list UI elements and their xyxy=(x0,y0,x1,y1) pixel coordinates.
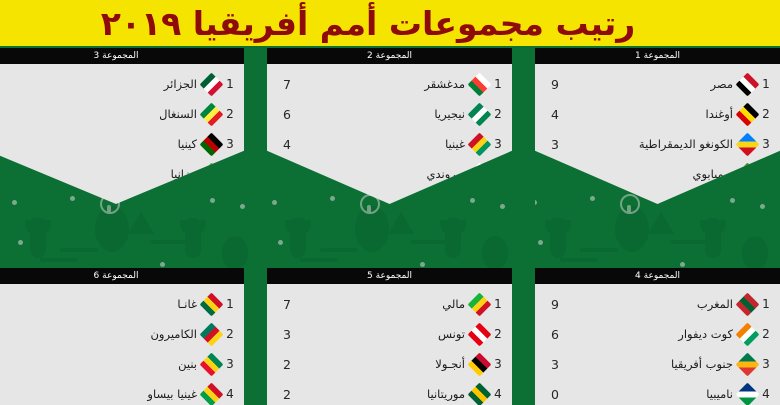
flag-icon-cm xyxy=(199,322,223,346)
team-name: موريتانيا xyxy=(423,387,469,401)
team-points: 4 xyxy=(541,107,573,122)
team-name: كينيا xyxy=(174,137,201,151)
team-name: المغرب xyxy=(693,297,737,311)
team-name: مالي xyxy=(438,297,469,311)
group-header-3: المجموعة 3 xyxy=(0,48,244,64)
table-row[interactable]: 3أنجـولا2 xyxy=(267,349,512,379)
decor-dot xyxy=(730,198,735,203)
flag-icon-ao xyxy=(467,352,491,376)
decor-tri xyxy=(128,212,154,234)
row-rank: 4 xyxy=(490,387,506,401)
team-points: 6 xyxy=(541,327,573,342)
decor-dash xyxy=(410,240,448,244)
team-name: الجزائر xyxy=(160,77,201,91)
decor-dot xyxy=(500,204,505,209)
row-rank: 3 xyxy=(222,137,238,151)
table-row[interactable]: 3جنوب أفريقيا3 xyxy=(535,349,780,379)
team-name: غينيا بيساو xyxy=(143,387,201,401)
team-name: السنغال xyxy=(155,107,201,121)
team-name: الكونغو الديمقراطية xyxy=(635,137,737,151)
flag-icon-mr xyxy=(467,382,491,405)
row-rank: 1 xyxy=(490,297,506,311)
team-name: نيجيريا xyxy=(430,107,469,121)
column-divider xyxy=(255,48,267,216)
decor-dot xyxy=(18,240,23,245)
flag-icon-ma xyxy=(735,292,759,316)
decor-trophy xyxy=(30,218,46,258)
table-row[interactable]: 1مدغشقر7 xyxy=(267,69,512,99)
team-name: جنوب أفريقيا xyxy=(667,357,737,371)
table-row[interactable]: 3كينيا xyxy=(0,129,244,159)
table-row[interactable]: 1المغرب9 xyxy=(535,289,780,319)
row-rank: 2 xyxy=(490,327,506,341)
team-name: تونس xyxy=(434,327,469,341)
flag-icon-ug xyxy=(735,102,759,126)
group-title: المجموعة 2 xyxy=(367,51,412,61)
flag-icon-eg xyxy=(735,72,759,96)
team-points: 9 xyxy=(541,297,573,312)
group-title: المجموعة 4 xyxy=(635,271,680,281)
decor-dot xyxy=(330,196,335,201)
decor-dash xyxy=(670,240,708,244)
decor-blob xyxy=(222,236,248,270)
divider-arrow xyxy=(523,214,535,223)
decor-dot xyxy=(160,262,165,267)
team-points: 3 xyxy=(273,327,305,342)
decor-dot xyxy=(272,200,277,205)
row-rank: 2 xyxy=(222,107,238,121)
row-rank: 4 xyxy=(758,387,774,401)
row-rank: 3 xyxy=(490,137,506,151)
decor-dot xyxy=(240,204,245,209)
table-row[interactable]: 3غينيا4 xyxy=(267,129,512,159)
table-row[interactable]: 3الكونغو الديمقراطية3 xyxy=(535,129,780,159)
flag-icon-ke xyxy=(199,132,223,156)
group-title: المجموعة 6 xyxy=(94,271,139,281)
flag-icon-bj xyxy=(199,352,223,376)
infographic-stage: رتيب مجموعات أمم أفريقيا ٢٠١٩ المجموعة 1… xyxy=(0,0,780,405)
group-4: 1المغرب92كوت ديفوار63جنوب أفريقيا34ناميب… xyxy=(535,284,780,405)
table-row[interactable]: 1مصر9 xyxy=(535,69,780,99)
decor-dot xyxy=(760,204,765,209)
decor-dot xyxy=(680,262,685,267)
table-row[interactable]: 2الكاميرون xyxy=(0,319,244,349)
decor-dot xyxy=(70,196,75,201)
team-points: 3 xyxy=(541,137,573,152)
decor-tri xyxy=(648,212,674,234)
column-divider xyxy=(523,48,535,216)
team-points: 6 xyxy=(273,107,305,122)
team-points: 7 xyxy=(273,297,305,312)
decor-blob xyxy=(742,236,768,270)
row-rank: 2 xyxy=(490,107,506,121)
decor-dash xyxy=(580,248,618,252)
group-6: 1غانـا2الكاميرون3بنين4غينيا بيساو xyxy=(0,284,244,405)
flag-icon-cd xyxy=(735,132,759,156)
decor-dot xyxy=(12,200,17,205)
table-row[interactable]: 4غينيا بيساو xyxy=(0,379,244,405)
decor-dash xyxy=(40,258,78,262)
team-name: بنين xyxy=(174,357,201,371)
decor-ring xyxy=(620,194,640,214)
decor-dash xyxy=(560,258,598,262)
row-rank: 3 xyxy=(758,357,774,371)
row-rank: 2 xyxy=(758,107,774,121)
team-name: مصر xyxy=(707,77,737,91)
team-points: 9 xyxy=(541,77,573,92)
table-row[interactable]: 1مالي7 xyxy=(267,289,512,319)
flag-icon-ci xyxy=(735,322,759,346)
table-row[interactable]: 3بنين xyxy=(0,349,244,379)
group-header-6: المجموعة 6 xyxy=(0,268,244,284)
group-5: 1مالي72تونس33أنجـولا24موريتانيا2 xyxy=(267,284,512,405)
column-divider xyxy=(255,268,267,405)
row-rank: 1 xyxy=(490,77,506,91)
team-points: 4 xyxy=(273,137,305,152)
group-header-2: المجموعة 2 xyxy=(267,48,512,64)
team-name: غينيا xyxy=(441,137,469,151)
decor-dash xyxy=(320,248,358,252)
flag-icon-ml xyxy=(467,292,491,316)
decor-trophy xyxy=(705,218,721,258)
decor-dot xyxy=(210,198,215,203)
decor-dot xyxy=(590,196,595,201)
row-rank: 1 xyxy=(222,297,238,311)
group-title: المجموعة 5 xyxy=(367,271,412,281)
flag-icon-gw xyxy=(199,382,223,405)
flag-icon-za xyxy=(735,352,759,376)
table-row[interactable]: 2أوغندا4 xyxy=(535,99,780,129)
decor-trophy xyxy=(185,218,201,258)
flag-icon-mg xyxy=(467,72,491,96)
team-name: غانـا xyxy=(173,297,201,311)
row-rank: 1 xyxy=(222,77,238,91)
group-title: المجموعة 1 xyxy=(635,51,680,61)
group-header-4: المجموعة 4 xyxy=(535,268,780,284)
decor-trophy xyxy=(290,218,306,258)
team-name: الكاميرون xyxy=(146,327,201,341)
team-name: أنجـولا xyxy=(431,357,469,371)
team-name: كوت ديفوار xyxy=(674,327,737,341)
flag-icon-dz xyxy=(199,72,223,96)
row-rank: 3 xyxy=(758,137,774,151)
title-bar: رتيب مجموعات أمم أفريقيا ٢٠١٩ xyxy=(0,0,780,46)
flag-icon-na xyxy=(735,382,759,405)
group-header-1: المجموعة 1 xyxy=(535,48,780,64)
table-row[interactable]: 2نيجيريا6 xyxy=(267,99,512,129)
table-row[interactable]: 4موريتانيا2 xyxy=(267,379,512,405)
row-rank: 2 xyxy=(758,327,774,341)
row-rank: 4 xyxy=(222,387,238,401)
decor-dash xyxy=(60,248,98,252)
page-title: رتيب مجموعات أمم أفريقيا ٢٠١٩ xyxy=(101,4,636,43)
decor-trophy xyxy=(445,218,461,258)
team-points: 2 xyxy=(273,387,305,402)
divider-arrow xyxy=(255,214,267,223)
table-row[interactable]: 1الجزائر xyxy=(0,69,244,99)
flag-icon-gn xyxy=(467,132,491,156)
decor-trophy xyxy=(550,218,566,258)
decor-tri xyxy=(388,212,414,234)
flag-icon-tn xyxy=(467,322,491,346)
decor-dot xyxy=(420,262,425,267)
decor-dash xyxy=(150,240,188,244)
group-title: المجموعة 3 xyxy=(94,51,139,61)
team-points: 7 xyxy=(273,77,305,92)
column-divider xyxy=(523,268,535,405)
flag-icon-ng xyxy=(467,102,491,126)
row-rank: 1 xyxy=(758,297,774,311)
team-points: 2 xyxy=(273,357,305,372)
team-points: 3 xyxy=(541,357,573,372)
table-row[interactable]: 4ناميبيا0 xyxy=(535,379,780,405)
row-rank: 1 xyxy=(758,77,774,91)
team-points: 0 xyxy=(541,387,573,402)
decor-dot xyxy=(538,240,543,245)
row-rank: 3 xyxy=(490,357,506,371)
row-rank: 3 xyxy=(222,357,238,371)
decor-dash xyxy=(300,258,338,262)
team-name: أوغندا xyxy=(702,107,737,121)
decor-dot xyxy=(278,240,283,245)
table-row[interactable]: 1غانـا xyxy=(0,289,244,319)
flag-icon-gh xyxy=(199,292,223,316)
decor-dot xyxy=(470,198,475,203)
table-row[interactable]: 2كوت ديفوار6 xyxy=(535,319,780,349)
flag-icon-sn xyxy=(199,102,223,126)
team-name: مدغشقر xyxy=(420,77,469,91)
table-row[interactable]: 2تونس3 xyxy=(267,319,512,349)
row-rank: 2 xyxy=(222,327,238,341)
table-row[interactable]: 2السنغال xyxy=(0,99,244,129)
team-name: ناميبيا xyxy=(702,387,737,401)
decor-blob xyxy=(482,236,508,270)
group-header-5: المجموعة 5 xyxy=(267,268,512,284)
